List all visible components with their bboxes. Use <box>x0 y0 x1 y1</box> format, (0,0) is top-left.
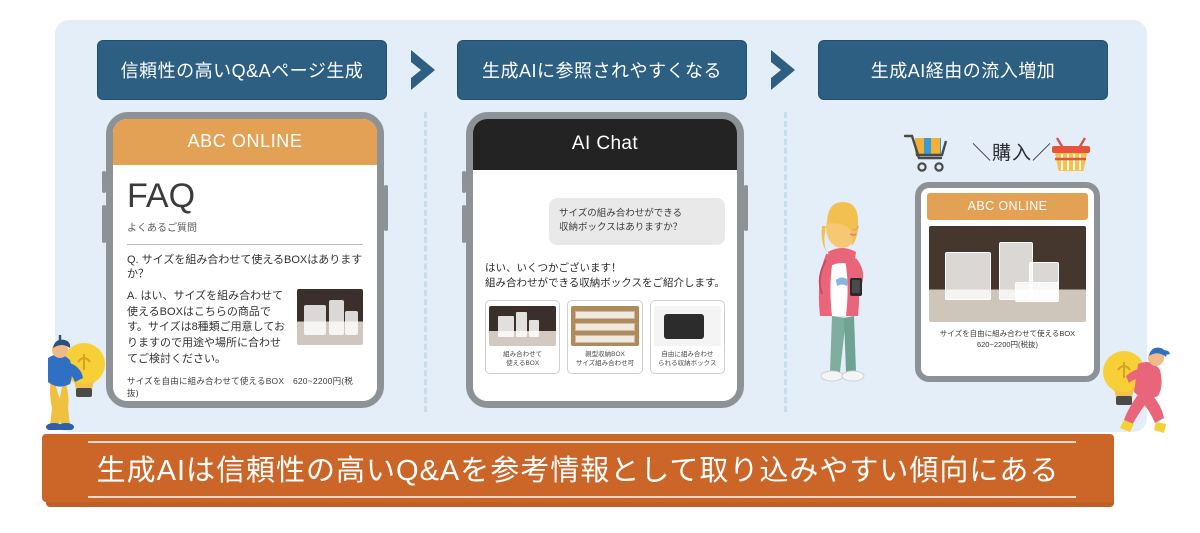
step-pill-3-label: 生成AI経由の流入増加 <box>871 57 1056 83</box>
column-divider-2 <box>784 112 787 412</box>
chat-product-card[interactable]: 組み合わせて 使えるBOX <box>485 300 560 374</box>
step-pill-2[interactable]: 生成AIに参照されやすくなる <box>457 40 747 100</box>
shopping-cart-icon <box>903 132 951 176</box>
product-image-icon <box>654 306 721 346</box>
tablet-product-caption: サイズを自由に組み合わせて使えるBOX 620~2200円(税抜) <box>921 328 1094 351</box>
purchase-label: ＼購入／ <box>962 138 1062 165</box>
faq-product-thumbnail <box>297 289 363 345</box>
faq-divider <box>127 244 363 245</box>
person-with-phone-icon <box>806 190 886 390</box>
faq-question: Q. サイズを組み合わせて使えるBOXはありますか？ <box>127 253 363 282</box>
chat-product-card[interactable]: 親型収納BOX サイズ組み合わせ可 <box>567 300 642 374</box>
faq-page-title: FAQ <box>127 179 363 213</box>
faq-price-line: サイズを自由に組み合わせて使えるBOX 620~2200円(税抜) <box>127 375 363 399</box>
chat-header-title: AI Chat <box>473 119 737 170</box>
step-pill-1-label: 信頼性の高いQ&Aページ生成 <box>121 57 364 83</box>
faq-answer-label: A. <box>127 290 137 302</box>
infographic-root: 信頼性の高いQ&Aページ生成 生成AIに参照されやすくなる 生成AI経由の流入増… <box>0 0 1200 533</box>
lightbulb-icon-right <box>1102 342 1188 434</box>
chat-product-card-list: 組み合わせて 使えるBOX 親型収納BOX サイズ組み合わせ可 自由に組み合わせ… <box>485 300 725 374</box>
tablet-mockup-product: ABC ONLINE サイズを自由に組み合わせて使えるBOX 620~2200円… <box>915 182 1100 382</box>
faq-brand-header: ABC ONLINE <box>113 119 377 165</box>
tablet-product-photo <box>929 226 1086 322</box>
chat-product-card[interactable]: 自由に組み合わせ られる収納ボックス <box>650 300 725 374</box>
product-card-caption: 親型収納BOX サイズ組み合わせ可 <box>571 350 638 369</box>
faq-answer: A. はい、サイズを組み合わせて使えるBOXはこちらの商品です。サイズは8種類ご… <box>127 289 291 369</box>
column-divider-1 <box>424 112 427 412</box>
phone-side-button <box>384 185 388 231</box>
chevron-right-icon-2 <box>765 48 805 92</box>
faq-answer-text: はい、サイズを組み合わせて使えるBOXはこちらの商品です。サイズは8種類ご用意し… <box>127 290 285 366</box>
tablet-brand-header: ABC ONLINE <box>927 193 1088 220</box>
step-pill-1[interactable]: 信頼性の高いQ&Aページ生成 <box>97 40 387 100</box>
chat-bot-message: はい、いくつかございます！ 組み合わせができる収納ボックスをご紹介します。 <box>485 261 725 293</box>
lightbulb-icon-left <box>34 334 112 430</box>
chat-user-bubble: サイズの組み合わせができる 収納ボックスはありますか？ <box>549 198 725 245</box>
chevron-right-icon-1 <box>405 48 445 92</box>
product-card-caption: 自由に組み合わせ られる収納ボックス <box>654 350 721 369</box>
phone-mockup-aichat: AI Chat サイズの組み合わせができる 収納ボックスはありますか？ はい、い… <box>466 112 744 408</box>
product-card-caption: 組み合わせて 使えるBOX <box>489 350 556 369</box>
step-pill-2-label: 生成AIに参照されやすくなる <box>482 57 722 83</box>
product-image-icon <box>571 306 638 346</box>
phone-mockup-faq: ABC ONLINE FAQ よくあるご質問 Q. サイズを組み合わせて使えるB… <box>106 112 384 408</box>
phone-side-button <box>744 185 748 231</box>
product-image-icon <box>489 306 556 346</box>
step-pill-3[interactable]: 生成AI経由の流入増加 <box>818 40 1108 100</box>
summary-banner-text: 生成AIは信頼性の高いQ&Aを参考情報として取り込みやすい傾向にある <box>42 434 1114 502</box>
faq-page-subtitle: よくあるご質問 <box>127 219 363 234</box>
